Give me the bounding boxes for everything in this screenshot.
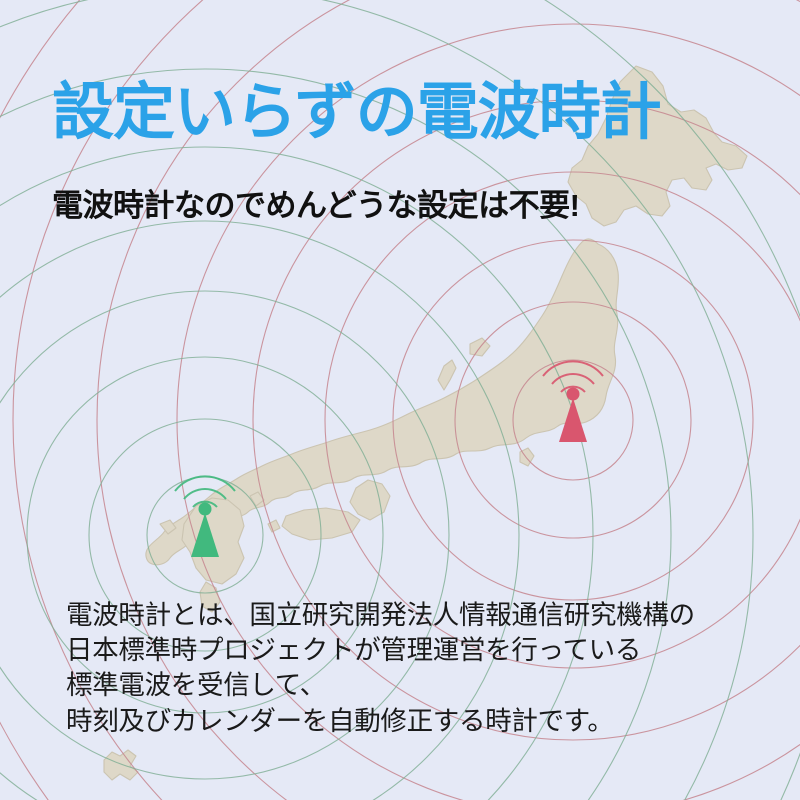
page-title: 設定いらずの電波時計 bbox=[52, 82, 661, 144]
description-paragraph: 電波時計とは、国立研究開発法人情報通信研究機構の 日本標準時プロジェクトが管理運… bbox=[66, 598, 695, 739]
page-subtitle: 電波時計なのでめんどうな設定は不要! bbox=[52, 190, 579, 221]
transmitter-red-beacon bbox=[567, 388, 580, 401]
poster-canvas: 設定いらずの電波時計 電波時計なのでめんどうな設定は不要! 電波時計とは、国立研… bbox=[0, 0, 800, 800]
transmitter-green-beacon bbox=[199, 503, 212, 516]
